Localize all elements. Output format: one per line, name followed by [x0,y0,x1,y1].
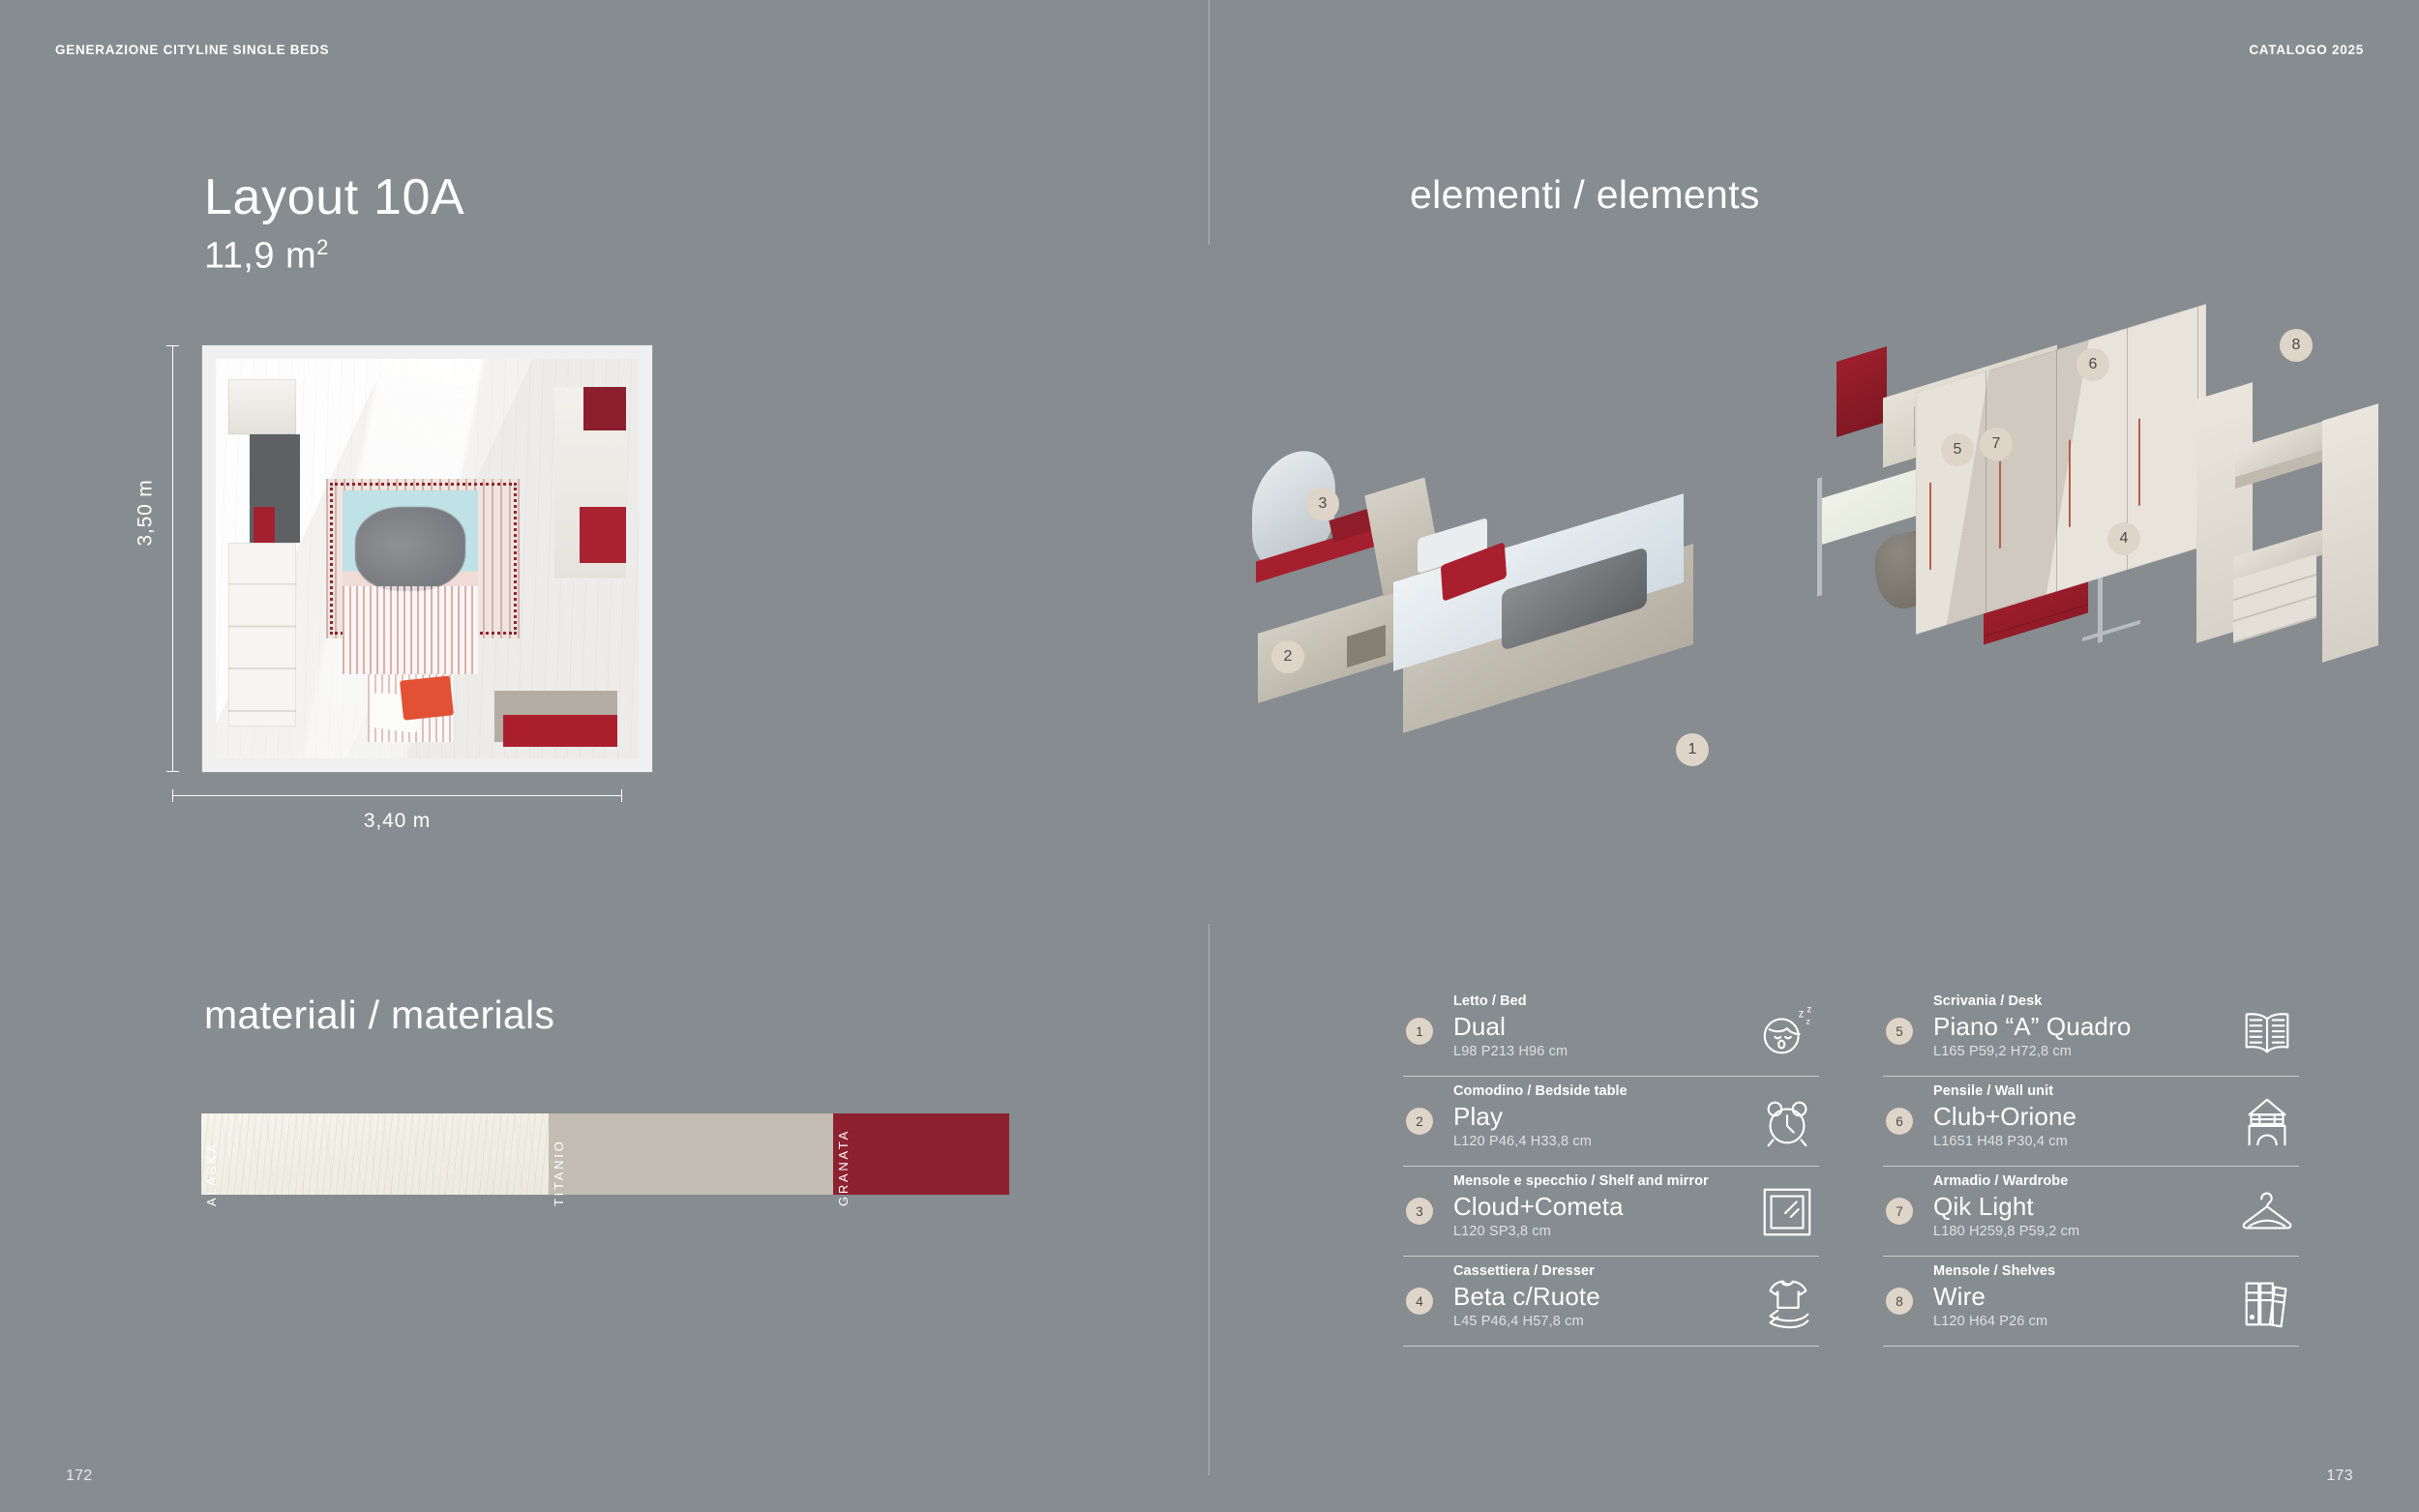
red-wall-unit [583,387,626,430]
callout-badge-5[interactable]: 5 [1941,433,1974,466]
elements-list: 1 Letto / Bed Dual L98 P213 H96 cm z z z [1403,987,2327,1347]
swatch-alaska: ALASKA [201,1113,549,1195]
svg-text:z: z [1807,1005,1811,1016]
page-number-left: 172 [66,1468,93,1485]
swatch-label-alaska: ALASKA [204,1141,219,1206]
svg-text:z: z [1799,1008,1805,1021]
alarm-clock-icon [1757,1092,1817,1152]
layout-area-exponent: 2 [316,235,329,259]
callout-badge-8[interactable]: 8 [2280,329,2313,362]
element-badge-5: 5 [1886,1018,1913,1045]
sleeping-face-icon: z z z [1757,1002,1817,1062]
desk-leg-left [1817,477,1822,597]
elements-column-left: 1 Letto / Bed Dual L98 P213 H96 cm z z z [1403,987,1819,1347]
divider-vertical-middle [1209,924,1209,1475]
elements-column-right: 5 Scrivania / Desk Piano “A” Quadro L165… [1883,987,2299,1347]
element-badge-3: 3 [1406,1198,1433,1225]
folded-clothes-icon [1757,1272,1817,1332]
element-row-5[interactable]: 5 Scrivania / Desk Piano “A” Quadro L165… [1883,987,2299,1077]
callout-badge-1[interactable]: 1 [1676,733,1709,766]
furniture-renders: 1 2 3 4 5 6 7 8 [1248,348,2361,851]
element-badge-6: 6 [1886,1108,1913,1135]
shelving-left [228,543,296,726]
callout-badge-2[interactable]: 2 [1271,640,1304,673]
red-unit-left [254,507,275,543]
wardrobe-right-column [2322,403,2378,663]
divider-vertical-top [1209,0,1209,245]
wall-unit-left-module [1837,346,1887,437]
bedspread-plan [343,586,478,674]
element-badge-7: 7 [1886,1198,1913,1225]
callout-badge-3[interactable]: 3 [1306,488,1339,520]
callout-badge-7[interactable]: 7 [1980,428,2013,460]
wardrobe-top-left [228,379,296,435]
pillow-orange [400,676,454,722]
dimension-label-width: 3,40 m [172,810,622,833]
element-row-1[interactable]: 1 Letto / Bed Dual L98 P213 H96 cm z z z [1403,987,1819,1077]
dimension-line-vertical [172,345,173,772]
duvet-plan [355,507,465,591]
materials-heading: materiali / materials [204,993,554,1038]
page-title: Layout 10A [204,172,464,222]
page-number-right: 173 [2326,1468,2353,1485]
room-render [216,359,639,758]
open-book-icon [2237,1002,2297,1062]
running-head-right: CATALOGO 2025 [2249,43,2364,57]
wall-unit-icon [2237,1092,2297,1152]
swatch-titanio: TITANIO [549,1113,833,1195]
element-badge-4: 4 [1406,1288,1433,1315]
running-head-left: GENERAZIONE CITYLINE SINGLE BEDS [55,43,329,57]
elements-heading: elementi / elements [1410,172,1760,218]
element-row-3[interactable]: 3 Mensole e specchio / Shelf and mirror … [1403,1167,1819,1257]
catalog-spread: GENERAZIONE CITYLINE SINGLE BEDS CATALOG… [0,0,2419,1512]
element-badge-2: 2 [1406,1108,1433,1135]
element-badge-8: 8 [1886,1288,1913,1315]
floor-plan-image [202,345,652,772]
element-row-4[interactable]: 4 Cassettiera / Dresser Beta c/Ruote L45… [1403,1257,1819,1347]
dimension-label-height: 3,50 m [134,479,158,546]
element-row-8[interactable]: 8 Mensole / Shelves Wire L120 H64 P26 cm [1883,1257,2299,1347]
books-icon [2237,1272,2297,1332]
element-row-6[interactable]: 6 Pensile / Wall unit Club+Orione L1651 … [1883,1077,2299,1167]
element-badge-1: 1 [1406,1018,1433,1045]
dimension-line-horizontal [172,795,622,796]
swatch-granata: GRANATA [833,1113,1009,1195]
swatch-label-titanio: TITANIO [552,1140,566,1206]
desk-foot [2082,620,2140,641]
layout-area-value: 11,9 m [204,236,316,277]
callout-badge-6[interactable]: 6 [2076,348,2109,381]
layout-area: 11,9 m2 [204,237,329,275]
swatch-label-granata: GRANATA [836,1129,851,1206]
element-row-2[interactable]: 2 Comodino / Bedside table Play L120 P46… [1403,1077,1819,1167]
materials-swatches: ALASKA TITANIO GRANATA [201,1113,1009,1195]
element-row-7[interactable]: 7 Armadio / Wardrobe Qik Light L180 H259… [1883,1167,2299,1257]
mirror-icon [1757,1182,1817,1242]
callout-badge-4[interactable]: 4 [2107,522,2140,555]
red-dresser [580,507,626,563]
coat-hanger-icon [2237,1182,2297,1242]
svg-text:z: z [1806,1016,1809,1025]
low-red-unit-plan [503,715,617,747]
